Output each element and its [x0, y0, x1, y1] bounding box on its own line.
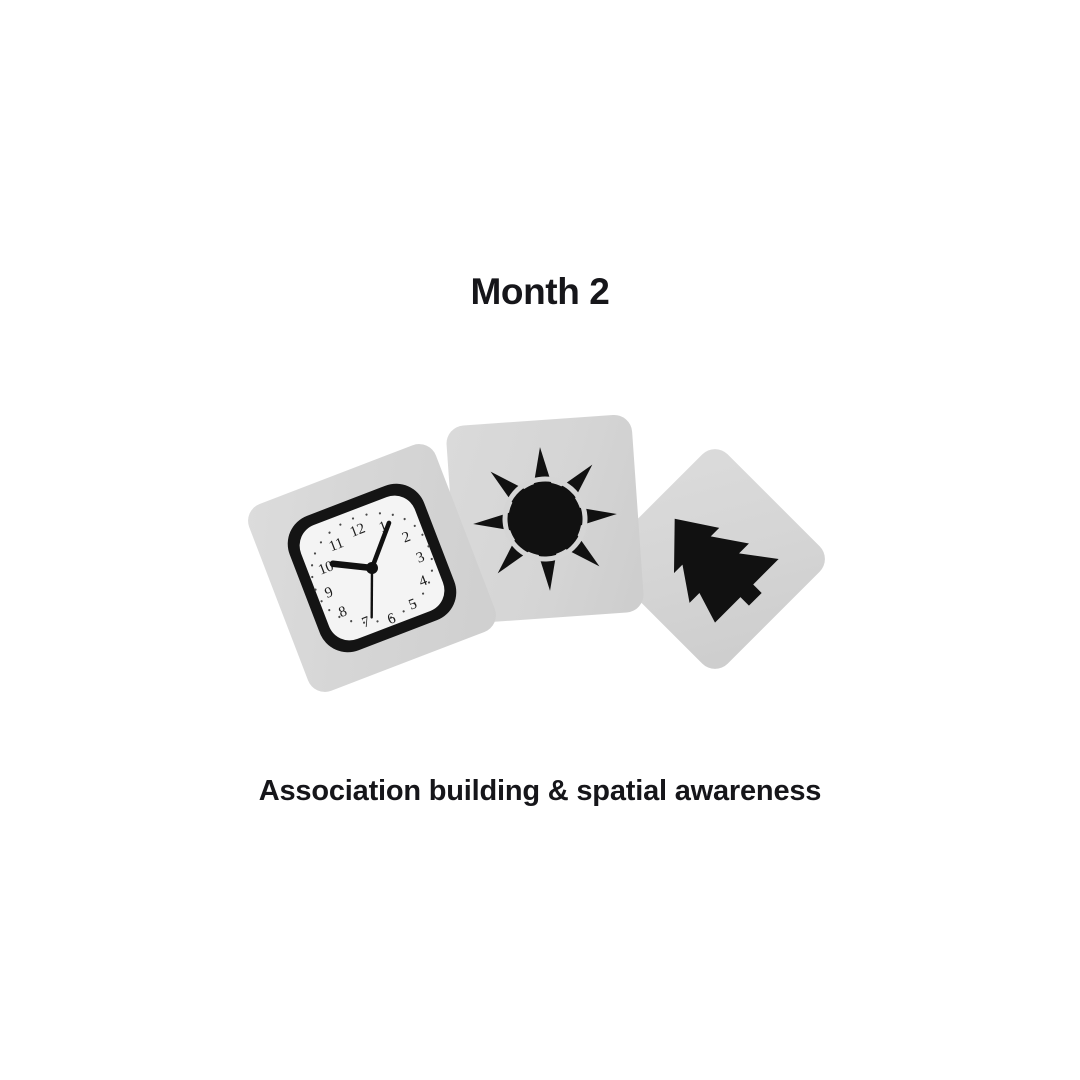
sun-icon [464, 438, 626, 600]
flashcard-fan: 12 1 2 3 4 5 6 7 8 9 10 11 [0, 380, 1080, 740]
caption-text: Association building & spatial awareness [0, 774, 1080, 809]
slide-root: Month 2 [0, 0, 1080, 1080]
pine-tree-icon [626, 470, 804, 648]
clock-icon: 12 1 2 3 4 5 6 7 8 9 10 11 [271, 467, 473, 669]
page-title: Month 2 [0, 272, 1080, 313]
